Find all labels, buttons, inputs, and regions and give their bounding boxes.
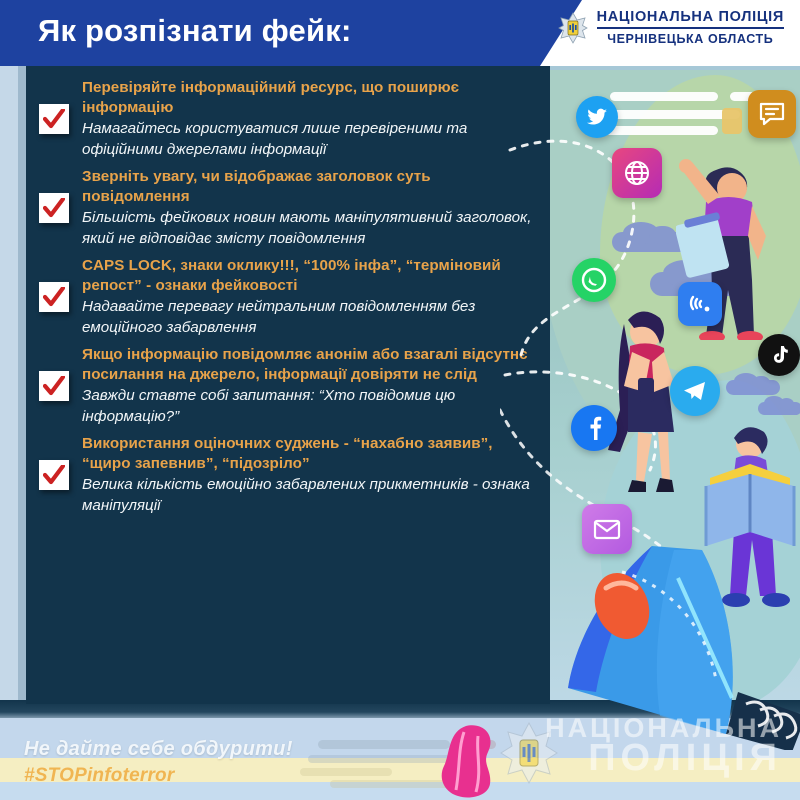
watermark: НАЦІОНАЛЬНА ПОЛІЦІЯ [545, 716, 782, 776]
news-card-marker [722, 108, 742, 134]
checkmark-wrapper [26, 371, 82, 401]
left-rail-light [0, 66, 18, 700]
checkmark-wrapper [26, 193, 82, 223]
tiktok-icon[interactable] [758, 334, 800, 376]
red-checkmark-icon [39, 371, 69, 401]
tip-body: Велика кількість емоційно забарвлених пр… [82, 474, 536, 516]
brand-text: НАЦІОНАЛЬНА ПОЛІЦІЯ ЧЕРНІВЕЦЬКА ОБЛАСТЬ [597, 8, 784, 47]
checkmark-wrapper [26, 104, 82, 134]
list-item: CAPS LOCK, знаки оклику!!!, “100% інфа”,… [26, 256, 550, 338]
list-item: Перевіряйте інформаційний ресурс, що пош… [26, 78, 550, 160]
tip-heading: Якщо інформацію повідомляє анонім або вз… [82, 345, 536, 384]
tip-heading: Використання оціночних суджень - “нахабн… [82, 434, 536, 473]
brand-line-2: ЧЕРНІВЕЦЬКА ОБЛАСТЬ [597, 31, 784, 47]
rss-wifi-icon[interactable] [678, 282, 722, 326]
facebook-icon[interactable] [571, 405, 617, 451]
red-checkmark-icon [39, 282, 69, 312]
red-checkmark-icon [39, 193, 69, 223]
watermark-line-2: ПОЛІЦІЯ [545, 741, 782, 776]
police-star-emblem-icon [558, 12, 588, 44]
list-item: Використання оціночних суджень - “нахабн… [26, 434, 550, 516]
brand-divider [597, 27, 784, 29]
red-checkmark-icon [39, 460, 69, 490]
instagram-globe-icon[interactable] [612, 148, 662, 198]
brand-line-1: НАЦІОНАЛЬНА ПОЛІЦІЯ [597, 8, 784, 26]
checkmark-wrapper [26, 282, 82, 312]
tip-body: Більшість фейкових новин мають маніпулят… [82, 207, 536, 249]
list-item-body: Якщо інформацію повідомляє анонім або вз… [82, 345, 550, 427]
list-item: Якщо інформацію повідомляє анонім або вз… [26, 345, 550, 427]
tip-heading: Зверніть увагу, чи відображає заголовок … [82, 167, 536, 206]
email-icon[interactable] [582, 504, 632, 554]
left-rail-shadow [18, 66, 26, 700]
list-item-body: Перевіряйте інформаційний ресурс, що пош… [82, 78, 550, 160]
page-title: Як розпізнати фейк: [38, 13, 352, 49]
list-item: Зверніть увагу, чи відображає заголовок … [26, 167, 550, 249]
footer-hashtag: #STOPinfoterror [24, 765, 174, 787]
list-item-body: Використання оціночних суджень - “нахабн… [82, 434, 550, 516]
tips-list: Перевіряйте інформаційний ресурс, що пош… [26, 78, 550, 523]
whatsapp-icon[interactable] [572, 258, 616, 302]
footer-slogan: Не дайте себе обдурити! [24, 738, 293, 761]
red-checkmark-icon [39, 104, 69, 134]
telegram-icon[interactable] [670, 366, 720, 416]
twitter-icon[interactable] [576, 96, 618, 138]
brand-lockup: НАЦІОНАЛЬНА ПОЛІЦІЯ ЧЕРНІВЕЦЬКА ОБЛАСТЬ [558, 8, 784, 47]
tip-body: Надавайте перевагу нейтральним повідомле… [82, 296, 536, 338]
chat-bubble-icon[interactable] [748, 90, 796, 138]
tip-heading: Перевіряйте інформаційний ресурс, що пош… [82, 78, 536, 117]
infographic-poster: НАЦІОНАЛЬНА ПОЛІЦІЯ [0, 0, 800, 800]
tip-heading: CAPS LOCK, знаки оклику!!!, “100% інфа”,… [82, 256, 536, 295]
tip-body: Завжди ставте собі запитання: “Хто повід… [82, 385, 536, 427]
checkmark-wrapper [26, 460, 82, 490]
list-item-body: CAPS LOCK, знаки оклику!!!, “100% інфа”,… [82, 256, 550, 338]
pink-silhouette-illustration [430, 722, 518, 800]
bg-card-line [300, 768, 392, 776]
news-card-line [610, 92, 718, 101]
list-item-body: Зверніть увагу, чи відображає заголовок … [82, 167, 550, 249]
header-bar: Як розпізнати фейк: НАЦІОНАЛЬНА ПОЛІЦІЯ … [0, 0, 800, 66]
tip-body: Намагайтесь користуватися лише перевірен… [82, 118, 536, 160]
